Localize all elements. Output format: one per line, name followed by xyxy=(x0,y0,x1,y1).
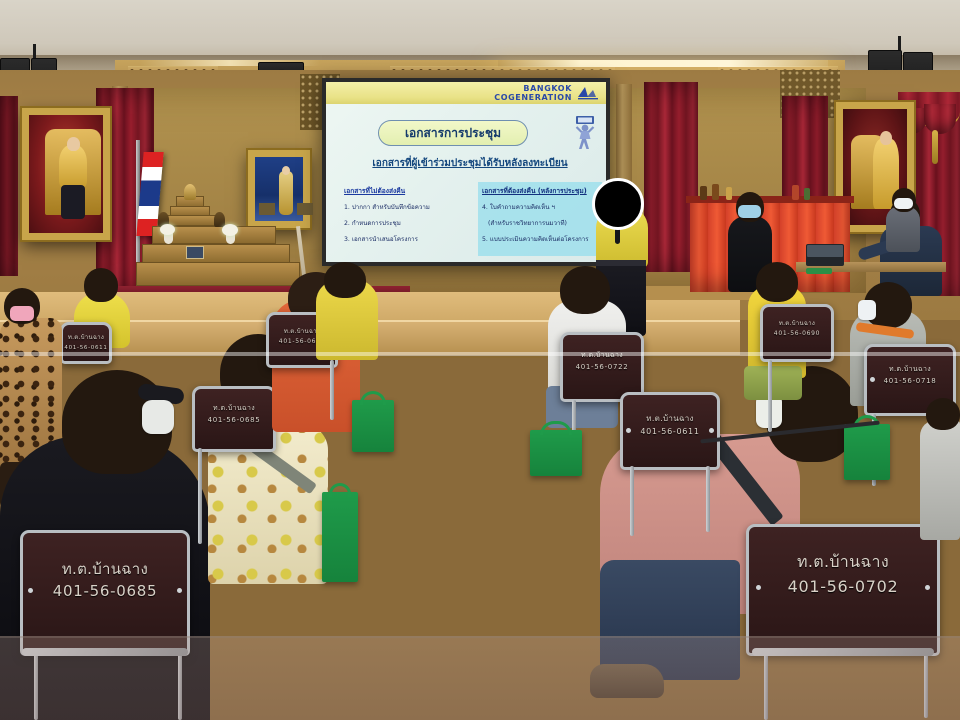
king-legs xyxy=(61,185,85,219)
attendee-yellow-mid-head xyxy=(324,262,366,298)
chair-sign: ท.ต.บ้านฉาง 401-56-0611 xyxy=(60,333,112,353)
chair-org: ท.ต.บ้านฉาง xyxy=(864,363,956,375)
presenter-belt xyxy=(596,260,646,266)
laptop-on-table xyxy=(806,244,844,266)
chair-mid-left: ท.ต.บ้านฉาง 401-56-0685 xyxy=(192,386,276,452)
attendee-gray-shirt xyxy=(886,206,920,252)
brand-line-2: COGENERATION xyxy=(494,93,572,102)
buddha-image xyxy=(184,184,196,200)
left-column-item-3: 3. เอกสารนำเสนอโครงการ xyxy=(344,234,462,245)
slide-left-column: เอกสารที่ไม่ต้องส่งคืน 1. ปากกา สำหรับบั… xyxy=(344,186,462,250)
laptop-screen xyxy=(807,245,843,257)
king-head xyxy=(67,137,80,151)
photograph-meeting-room: BANGKOK COGENERATION เอกสารการประชุม xyxy=(0,0,960,720)
chair-sign: ท.ต.บ้านฉาง 401-56-0690 xyxy=(760,319,834,339)
company-logo-icon xyxy=(576,85,600,101)
attendee-gray-mask xyxy=(894,198,913,209)
royal-portrait-king xyxy=(22,108,110,240)
curtain-far-left xyxy=(0,96,18,276)
tote-bag-1 xyxy=(352,400,394,452)
altar-plaque xyxy=(186,246,204,259)
presentation-slide: BANGKOK COGENERATION เอกสารการประชุม xyxy=(326,82,606,262)
chair-code: 401-56-0690 xyxy=(760,329,834,339)
chair-org: ท.ต.บ้านฉาง xyxy=(746,550,940,574)
attendee-yellow-right-skirt xyxy=(744,366,802,400)
framed-portrait-on-easel xyxy=(248,150,310,228)
tote-bag-handle xyxy=(329,483,351,497)
altar-flowers-left xyxy=(160,224,175,235)
easel-portrait-canvas xyxy=(255,157,303,221)
brand-text-block: BANGKOK COGENERATION xyxy=(494,84,572,102)
attendee-standing-mask xyxy=(738,205,761,218)
bottle-1 xyxy=(700,186,707,200)
attendee-white-shirt-head xyxy=(560,266,610,314)
chair-back-center-leg-b xyxy=(706,466,710,532)
right-column-item-4: 4. ใบคำถามความคิดเห็น ฯ xyxy=(482,202,598,213)
portrait-canvas-king xyxy=(29,115,103,233)
chair-back-center-leg-a xyxy=(630,466,634,536)
easel-portrait-figure xyxy=(279,171,293,215)
slide-subtitle: เอกสารที่ผู้เข้าร่วมประชุมได้รับหลังลงทะ… xyxy=(342,156,598,171)
chair-code: 401-56-0685 xyxy=(192,414,276,426)
chair-code: 401-56-0722 xyxy=(560,361,644,373)
attendee-yellow-right-head xyxy=(756,262,798,302)
chair-code: 401-56-0685 xyxy=(20,580,190,602)
slide-title: เอกสารการประชุม xyxy=(405,124,501,143)
chair-sign: ท.ต.บ้านฉาง 401-56-0702 xyxy=(746,550,940,600)
attendee-foreground-left-mask xyxy=(142,400,174,434)
chair-code: 401-56-0702 xyxy=(746,574,940,600)
floor-front-band xyxy=(0,636,960,720)
chair-mid-left-leg xyxy=(198,448,202,544)
cove-light xyxy=(498,60,828,67)
slide-right-column: เอกสารที่ต้องส่งคืน (หลังการประชุม) 4. ใ… xyxy=(478,182,602,256)
altar-base xyxy=(136,262,300,286)
chair-far-left: ท.ต.บ้านฉาง 401-56-0611 xyxy=(60,322,112,364)
slide-title-box: เอกสารการประชุม xyxy=(378,120,528,146)
attendee-gray-seated-mask xyxy=(858,300,876,320)
floor-stage-edge-highlight xyxy=(0,352,960,356)
green-document-on-table xyxy=(806,268,832,274)
projector-screen: BANGKOK COGENERATION เอกสารการประชุม xyxy=(322,78,610,266)
curtain-swag-b xyxy=(924,104,956,134)
chair-org: ท.ต.บ้านฉาง xyxy=(760,319,834,329)
attendee-back-right xyxy=(920,420,960,540)
tote-bag-4 xyxy=(844,424,890,480)
left-column-heading: เอกสารที่ไม่ต้องส่งคืน xyxy=(344,186,462,197)
attendee-leopard-mask xyxy=(10,306,34,321)
chair-far-right-leg xyxy=(768,360,772,432)
brand-line-1: BANGKOK xyxy=(494,84,572,93)
bottle-5 xyxy=(804,188,810,200)
chair-code: 401-56-0718 xyxy=(864,375,956,387)
bottle-4 xyxy=(792,185,799,200)
chair-sign: ท.ต.บ้านฉาง 401-56-0685 xyxy=(20,558,190,602)
bottle-3 xyxy=(726,187,732,200)
presenter-pictogram-icon xyxy=(572,116,598,150)
altar-shelf-lower xyxy=(142,244,290,264)
easel-portrait-table-right xyxy=(297,203,313,215)
chair-sign: ท.ต.บ้านฉาง 401-56-0685 xyxy=(192,403,276,426)
easel-portrait-table-left xyxy=(259,203,275,215)
altar-flowers-right xyxy=(222,224,238,236)
attendee-back-right-head xyxy=(926,398,960,430)
right-column-item-5: 5. แบบประเมินความคิดเห็นต่อโครงการ xyxy=(482,234,598,245)
left-column-item-1: 1. ปากกา สำหรับบันทึกข้อความ xyxy=(344,202,462,213)
chair-org: ท.ต.บ้านฉาง xyxy=(60,333,112,343)
tote-bag-handle xyxy=(360,391,385,405)
chair-sign: ท.ต.บ้านฉาง 401-56-0718 xyxy=(864,363,956,387)
bottle-2 xyxy=(712,184,719,200)
queen-head xyxy=(880,131,892,145)
attendee-yellow-left-head xyxy=(84,268,118,302)
king-figure xyxy=(59,145,87,189)
right-column-item-4-note: (สำหรับราชวิทยาการนมวาที) xyxy=(488,218,598,229)
altar-statue-right xyxy=(214,212,225,227)
presenter-face-redaction xyxy=(592,178,644,230)
tote-bag-3 xyxy=(530,430,582,476)
tote-bag-2 xyxy=(322,492,358,582)
curtain-tassel-b xyxy=(932,130,938,164)
chair-mid-center-leg xyxy=(330,360,334,420)
left-column-item-2: 2. กำหนดการประชุม xyxy=(344,218,462,229)
easel-portrait-head xyxy=(282,166,290,175)
chair-org: ท.ต.บ้านฉาง xyxy=(20,558,190,580)
chair-org: ท.ต.บ้านฉาง xyxy=(192,403,276,414)
right-column-heading: เอกสารที่ต้องส่งคืน (หลังการประชุม) xyxy=(482,186,598,197)
